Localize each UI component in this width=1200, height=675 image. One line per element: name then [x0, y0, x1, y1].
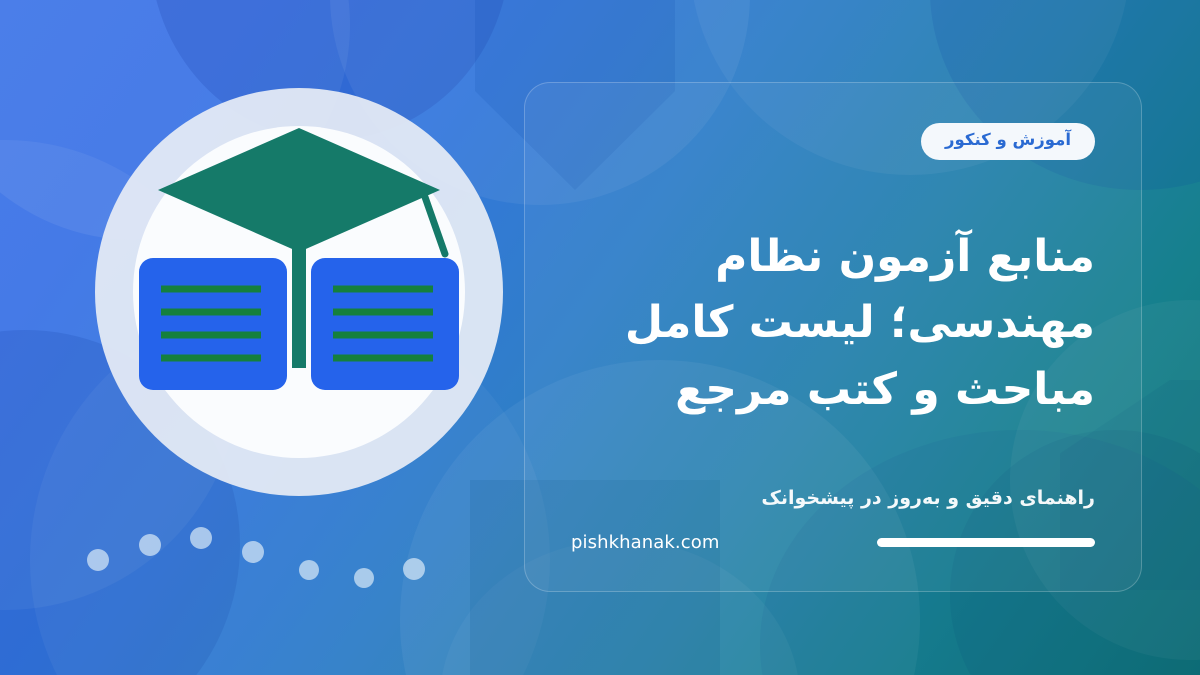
open-book-graduation-cap-icon: [95, 88, 503, 496]
promo-banner: آموزش و کنکور منابع آزمون نظام مهندسی؛ ل…: [0, 0, 1200, 675]
tassel-icon: [425, 197, 445, 254]
decorative-dot: [242, 541, 264, 563]
decorative-dot: [190, 527, 212, 549]
card-footer: pishkhanak.com: [571, 532, 1095, 553]
accent-bar: [877, 538, 1095, 547]
card-spacer: [571, 512, 1095, 532]
content-card: آموزش و کنکور منابع آزمون نظام مهندسی؛ ل…: [524, 82, 1142, 592]
decorative-dot: [403, 558, 425, 580]
decorative-dot: [87, 549, 109, 571]
category-badge[interactable]: آموزش و کنکور: [921, 123, 1095, 160]
book-right-page: [311, 258, 459, 390]
page-title: منابع آزمون نظام مهندسی؛ لیست کامل مباحث…: [571, 224, 1095, 425]
page-subtitle: راهنمای دقیق و به‌روز در پیشخوانک: [571, 484, 1095, 513]
book-spine: [292, 238, 306, 368]
decorative-dot: [299, 560, 319, 580]
book-left-page: [139, 258, 287, 390]
graduation-cap-icon: [158, 128, 440, 252]
site-domain: pishkhanak.com: [571, 532, 720, 553]
decorative-dot: [139, 534, 161, 556]
education-icon-medallion: [95, 88, 503, 496]
decorative-dot: [354, 568, 374, 588]
